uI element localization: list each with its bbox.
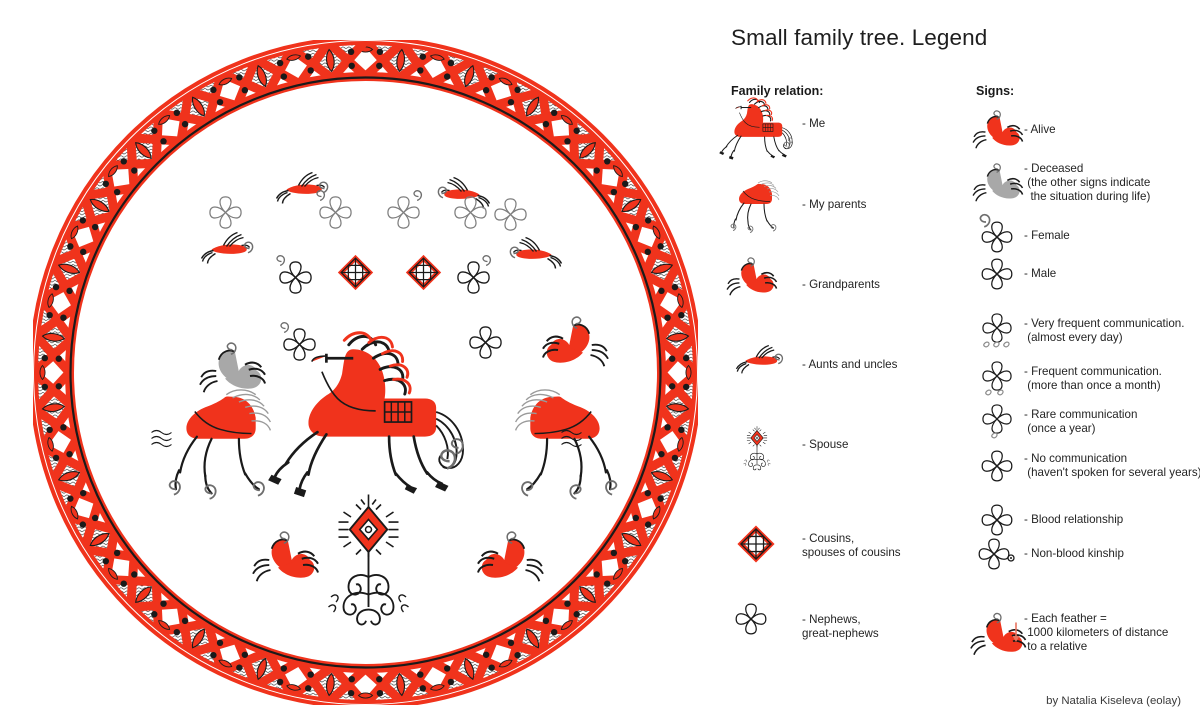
parent-horse-right: [516, 390, 617, 499]
family_relations-label: - Aunts and uncles: [802, 358, 897, 372]
me-horse: [268, 333, 463, 497]
comm-very-frequent-icon: [976, 311, 1018, 351]
nephews-clover-icon: [730, 599, 792, 655]
signs-row: - Female: [945, 216, 1200, 256]
signs-row: - Very frequent communication. (almost e…: [945, 311, 1200, 351]
family_relations-label: - My parents: [802, 198, 866, 212]
grandparent-swan-right: [543, 317, 608, 366]
family_relations-row: - Nephews, great-nephews: [700, 599, 955, 655]
family-tree-mandala: [33, 40, 698, 705]
cousins-diamonds: [341, 258, 438, 287]
signs-label: - Male: [1024, 267, 1056, 281]
signs-label: - Female: [1024, 229, 1070, 243]
flying-bird-icon: [730, 337, 792, 393]
deceased-swan-icon: [976, 163, 1018, 203]
family_relations-row: - Me: [700, 96, 955, 152]
clover-spirals: [277, 191, 490, 333]
signs-row: - Non-blood kinship: [945, 534, 1200, 574]
family_relations-label: - Cousins, spouses of cousins: [802, 532, 901, 560]
feather-distance-swan-icon: [976, 613, 1018, 653]
signs-row: - Male: [945, 254, 1200, 294]
family_relations-row: - Grandparents: [700, 257, 955, 313]
signs-label: - No communication (haven't spoken for s…: [1024, 452, 1200, 480]
male-clover-icon: [976, 254, 1018, 294]
family_relations-label: - Grandparents: [802, 278, 880, 292]
family_relations-label: - Spouse: [802, 438, 848, 452]
family_relations-label: - Me: [802, 117, 825, 131]
spouse-diamond-tree: [329, 495, 409, 625]
family_relations-row: - Aunts and uncles: [700, 337, 955, 393]
signs-row: - Each feather = 1000 kilometers of dist…: [945, 612, 1200, 655]
signs-row: - Frequent communication. (more than onc…: [945, 359, 1200, 399]
legend-panel: Small family tree. Legend Family relatio…: [700, 0, 1200, 723]
credit-line: by Natalia Kiseleva (eolay): [1046, 695, 1181, 707]
signs-row: - Deceased (the other signs indicate the…: [945, 162, 1200, 205]
signs-label: - Very frequent communication. (almost e…: [1024, 317, 1184, 345]
aunt-uncle-birds: [202, 173, 562, 269]
comm-rare-icon: [976, 402, 1018, 442]
comm-none-icon: [976, 446, 1018, 486]
spouse-flower-icon: [730, 417, 792, 473]
signs-label: - Rare communication (once a year): [1024, 408, 1137, 436]
red-swan-icon: [730, 257, 792, 313]
signs-row: - No communication (haven't spoken for s…: [945, 446, 1200, 486]
cousins-diamond-icon: [730, 518, 792, 574]
family_relations-row: - Cousins, spouses of cousins: [700, 518, 955, 574]
alive-swan-icon: [976, 110, 1018, 150]
family_relations-row: - Spouse: [700, 417, 955, 473]
signs-label: - Each feather = 1000 kilometers of dist…: [1024, 612, 1168, 655]
nonblood-clover-icon: [976, 534, 1018, 574]
grandparent-swan-bottom-left: [253, 532, 318, 581]
family_relations-row: - My parents: [700, 177, 955, 233]
grandparent-swan-bottom-right: [478, 532, 543, 581]
female-clover-icon: [976, 216, 1018, 256]
comm-frequent-icon: [976, 359, 1018, 399]
rearing-horse-icon: [730, 96, 792, 152]
signs-row: - Alive: [945, 110, 1200, 150]
signs-label: - Non-blood kinship: [1024, 547, 1124, 561]
mandala-inner-scene: [152, 173, 617, 625]
deceased-swan: [200, 343, 265, 392]
signs-label: - Deceased (the other signs indicate the…: [1024, 162, 1150, 205]
signs-label: - Blood relationship: [1024, 513, 1123, 527]
page-title: Small family tree. Legend: [731, 25, 987, 51]
signs-label: - Alive: [1024, 123, 1056, 137]
galloping-horse-icon: [730, 177, 792, 233]
signs-row: - Rare communication (once a year): [945, 402, 1200, 442]
signs-label: - Frequent communication. (more than onc…: [1024, 365, 1162, 393]
signs-heading: Signs:: [976, 84, 1014, 98]
family_relations-label: - Nephews, great-nephews: [802, 613, 879, 641]
parent-horse-left: [170, 390, 271, 499]
